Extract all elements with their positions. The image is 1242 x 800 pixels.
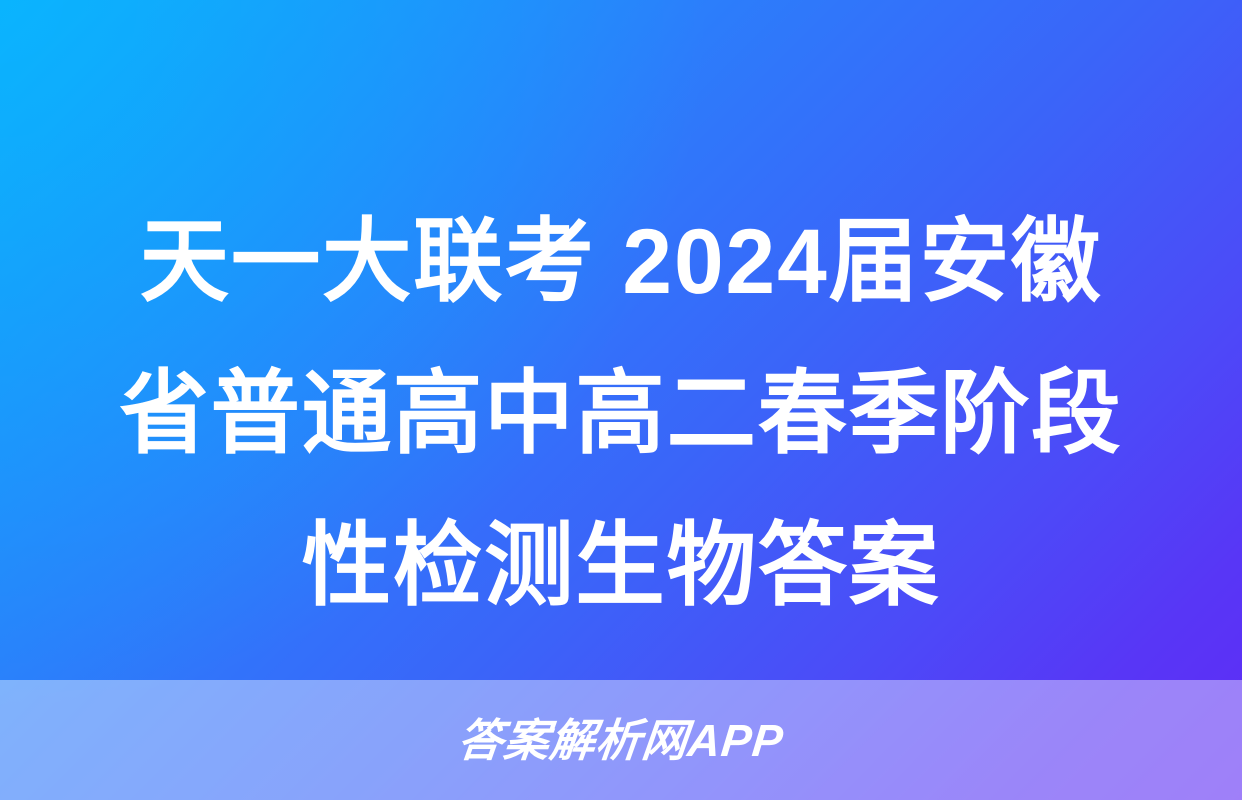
title-line-1: 天一大联考 2024届安徽 — [87, 186, 1156, 338]
app-watermark-label: 答案解析网APP — [456, 718, 786, 763]
poster-canvas: 天一大联考 2024届安徽 省普通高中高二春季阶段 性检测生物答案 答案解析网A… — [0, 0, 1242, 800]
page-title: 天一大联考 2024届安徽 省普通高中高二春季阶段 性检测生物答案 — [0, 186, 1242, 642]
title-line-3: 性检测生物答案 — [87, 490, 1156, 642]
title-line-2: 省普通高中高二春季阶段 — [87, 338, 1156, 490]
app-watermark-bar: 答案解析网APP — [0, 680, 1242, 800]
